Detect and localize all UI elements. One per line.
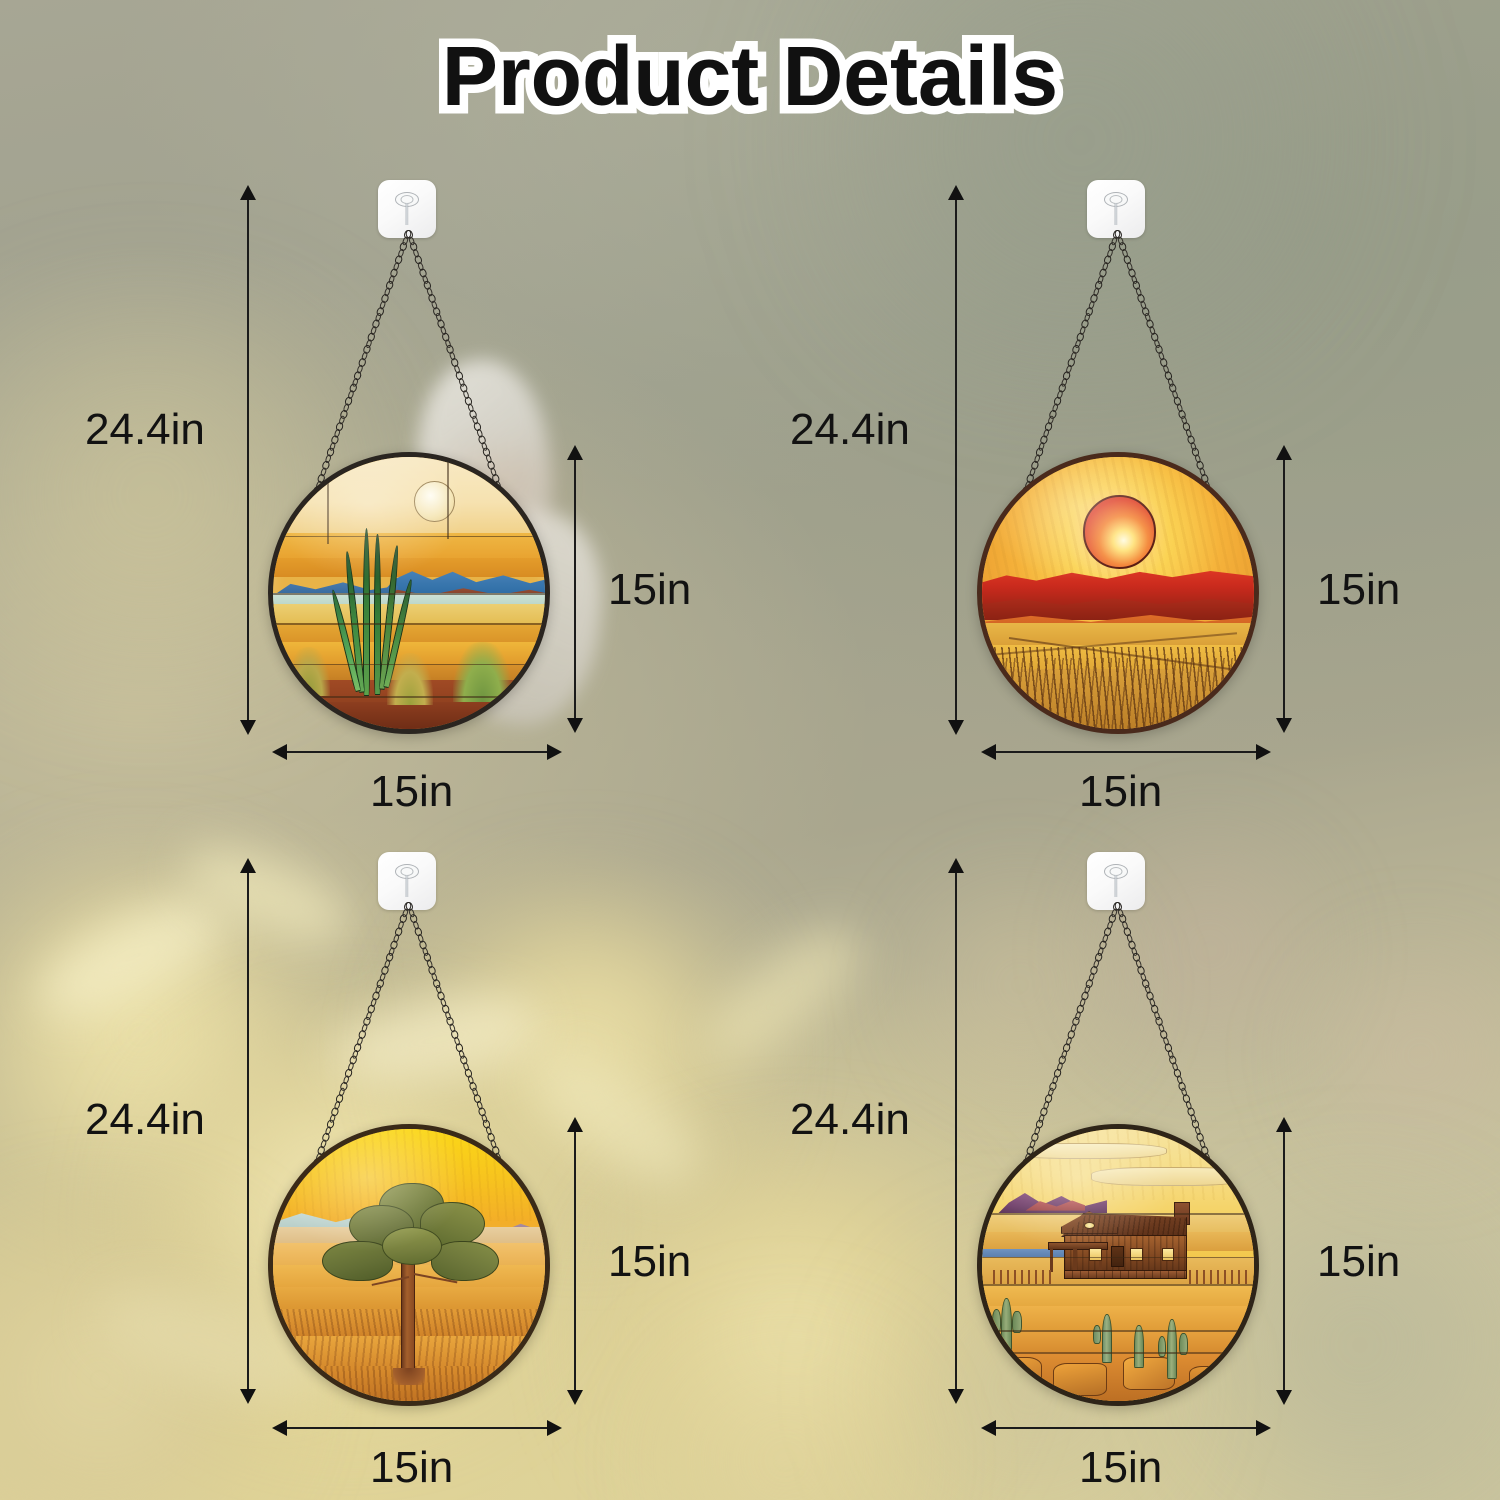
disc-width-label: 15in — [370, 1446, 453, 1490]
disc-height-label: 15in — [1317, 1240, 1400, 1284]
arrow-down-icon — [240, 1389, 256, 1404]
disc-width-dimension-line — [285, 1427, 549, 1429]
disc-height-label: 15in — [608, 1240, 691, 1284]
disc-width-dimension-line — [994, 1427, 1258, 1429]
disc-width-dimension-line — [994, 751, 1258, 753]
glass-saguaro-cactus — [1102, 1314, 1112, 1363]
arrow-up-icon — [948, 185, 964, 200]
glass-fence — [1189, 1270, 1249, 1284]
arrow-up-icon — [1276, 1117, 1292, 1132]
glass-saguaro-cactus — [1167, 1319, 1177, 1379]
disc-height-dimension-line — [574, 458, 576, 720]
arrow-down-icon — [240, 720, 256, 735]
disc-width-dimension-line — [285, 751, 549, 753]
glass-tree-canopy — [382, 1227, 442, 1265]
overall-height-dimension-line — [955, 871, 957, 1401]
disc-width-label: 15in — [370, 770, 453, 814]
glass-yucca — [287, 647, 331, 696]
hook-clip — [394, 864, 420, 894]
page-title: Product Details — [442, 34, 1058, 118]
arrow-right-icon — [1256, 744, 1271, 760]
arrow-up-icon — [567, 1117, 583, 1132]
hook-clip — [394, 192, 420, 222]
arrow-down-icon — [1276, 718, 1292, 733]
arrow-right-icon — [547, 1420, 562, 1436]
suncatcher-disc[interactable] — [977, 1124, 1259, 1406]
hook-clip — [1103, 864, 1129, 894]
arrow-up-icon — [1276, 445, 1292, 460]
suncatcher-disc[interactable] — [268, 1124, 550, 1406]
hook-stem — [405, 875, 408, 897]
overall-height-label: 24.4in — [790, 1098, 910, 1142]
arrow-down-icon — [1276, 1390, 1292, 1405]
disc-height-label: 15in — [608, 568, 691, 612]
arrow-up-icon — [240, 185, 256, 200]
arrow-left-icon — [981, 744, 996, 760]
glass-cabin — [1042, 1202, 1200, 1289]
arrow-left-icon — [981, 1420, 996, 1436]
arrow-right-icon — [547, 744, 562, 760]
glass-fence — [993, 1270, 1053, 1284]
overall-height-label: 24.4in — [85, 408, 205, 452]
disc-width-label: 15in — [1079, 770, 1162, 814]
glass-saguaro-cactus — [1001, 1298, 1012, 1358]
overall-height-dimension-line — [247, 198, 249, 732]
arrow-down-icon — [567, 1390, 583, 1405]
arrow-down-icon — [948, 1389, 964, 1404]
arrow-down-icon — [948, 720, 964, 735]
arrow-up-icon — [948, 858, 964, 873]
disc-height-dimension-line — [1283, 458, 1285, 720]
hook-stem — [1114, 203, 1117, 225]
suncatcher-disc[interactable] — [977, 452, 1259, 734]
product-panel-lone-tree: 24.4in — [0, 830, 750, 1500]
product-panel-desert-cabin: 24.4in — [750, 830, 1500, 1500]
arrow-left-icon — [272, 744, 287, 760]
hook-clip — [1103, 192, 1129, 222]
product-panel-desert-agave: 24.4in — [0, 140, 750, 850]
overall-height-dimension-line — [247, 871, 249, 1401]
product-panel-red-sunset: 24.4in 15i — [750, 140, 1500, 850]
arrow-up-icon — [240, 858, 256, 873]
disc-width-label: 15in — [1079, 1446, 1162, 1490]
glass-grass-field — [982, 658, 1254, 734]
suncatcher-disc[interactable] — [268, 452, 550, 734]
hook-stem — [405, 203, 408, 225]
page-title-container: Product Details — [0, 34, 1500, 118]
disc-height-dimension-line — [1283, 1130, 1285, 1392]
arrow-down-icon — [567, 718, 583, 733]
glass-red-sun — [1083, 495, 1156, 568]
hook-stem — [1114, 875, 1117, 897]
glass-yucca — [453, 642, 513, 702]
disc-height-dimension-line — [574, 1130, 576, 1392]
overall-height-label: 24.4in — [790, 408, 910, 452]
arrow-left-icon — [272, 1420, 287, 1436]
disc-height-label: 15in — [1317, 568, 1400, 612]
overall-height-label: 24.4in — [85, 1098, 205, 1142]
arrow-up-icon — [567, 445, 583, 460]
overall-height-dimension-line — [955, 198, 957, 732]
arrow-right-icon — [1256, 1420, 1271, 1436]
